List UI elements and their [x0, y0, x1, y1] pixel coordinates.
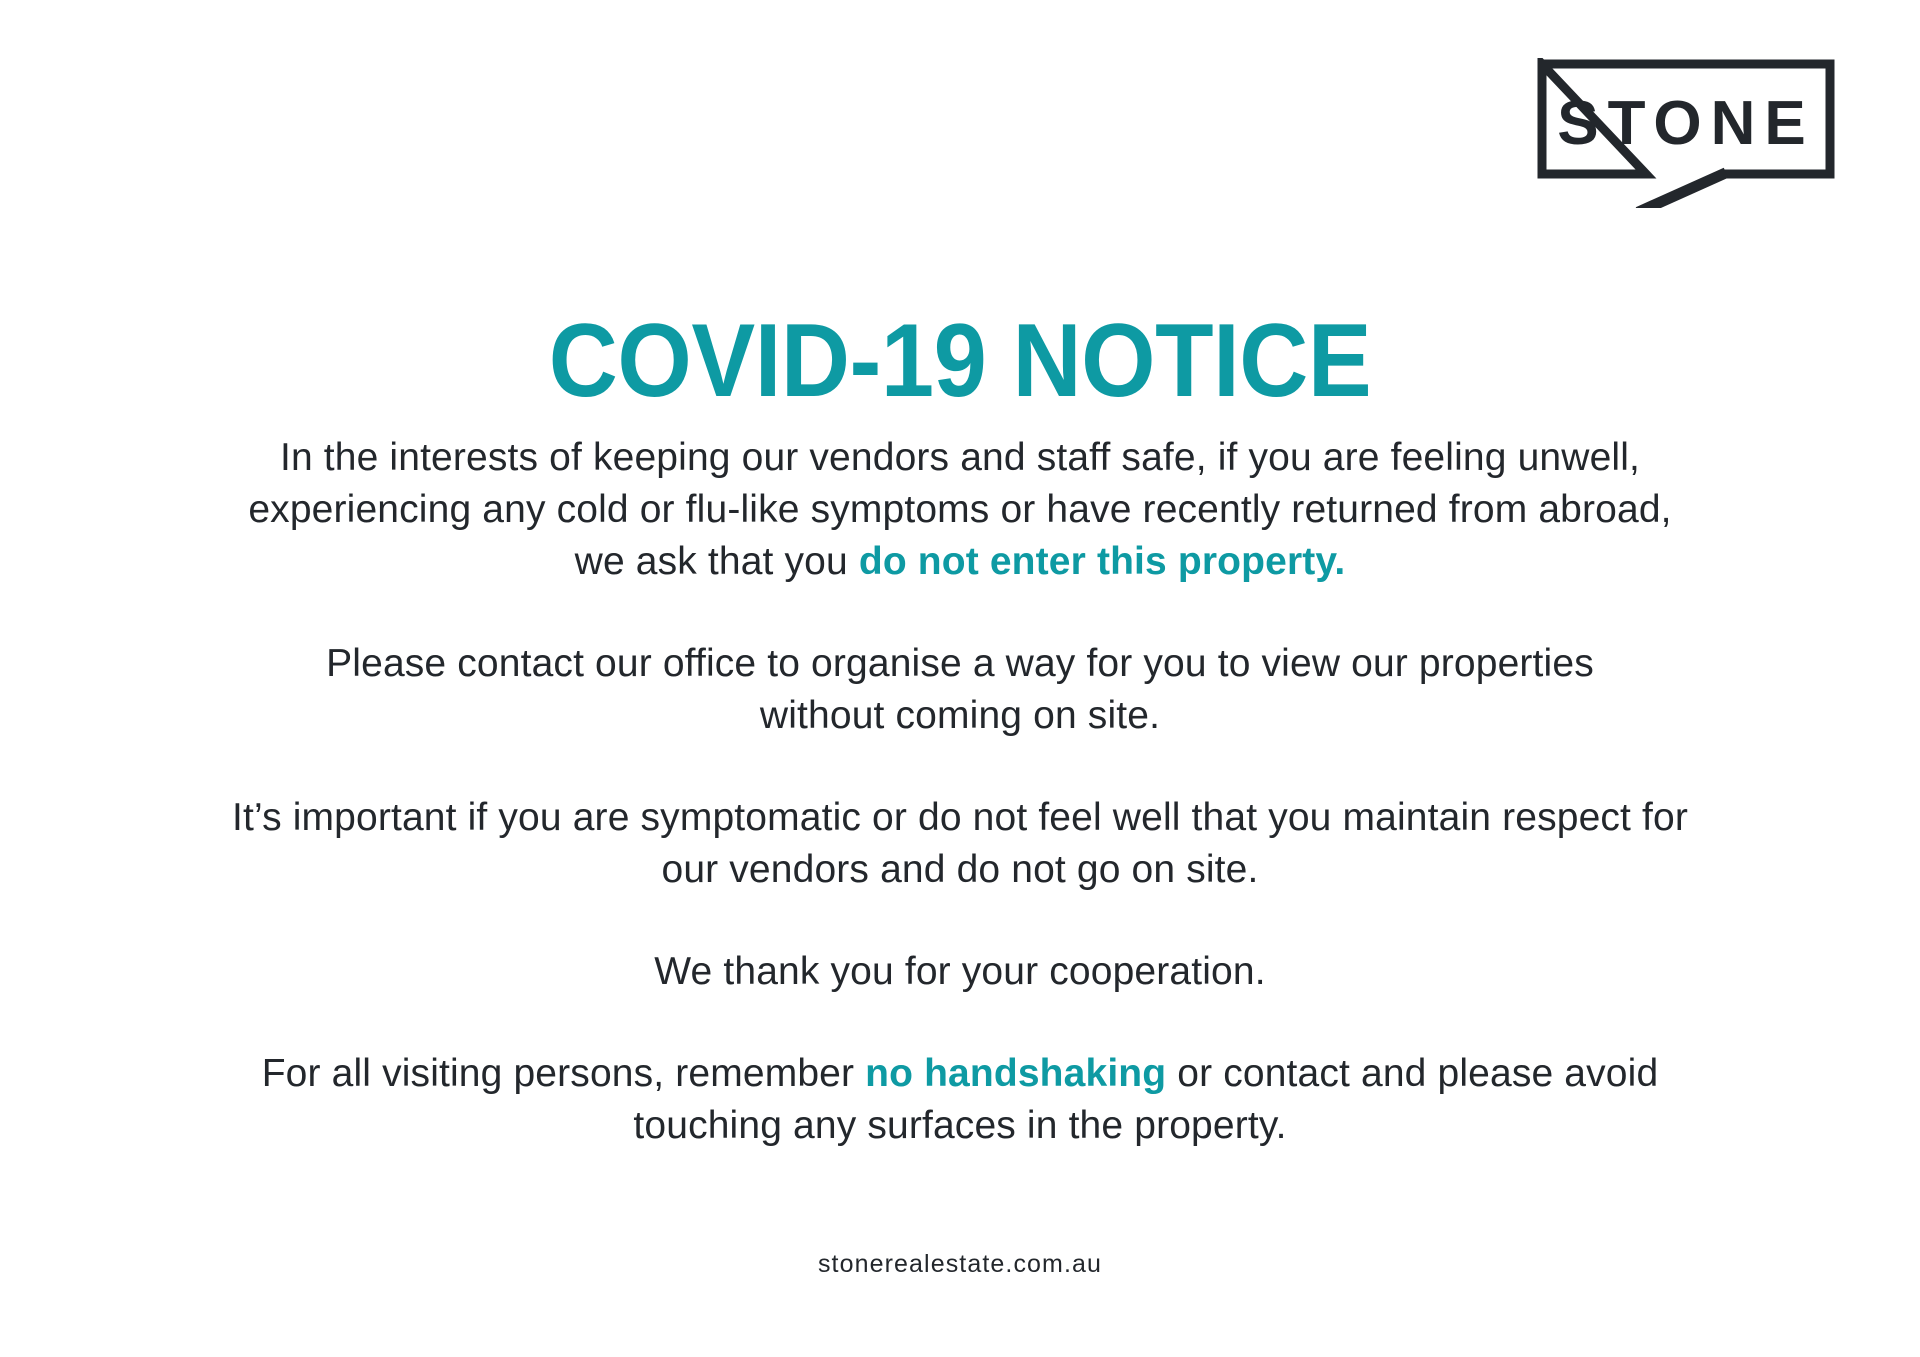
- stone-speech-bubble-logo: STONE: [1536, 58, 1836, 208]
- notice-paragraph-1: In the interests of keeping our vendors …: [180, 432, 1740, 588]
- paragraph-3-text: It’s important if you are symptomatic or…: [232, 796, 1688, 891]
- covid-notice-poster: STONE COVID-19 NOTICE In the interests o…: [0, 0, 1920, 1357]
- paragraph-4-text: We thank you for your cooperation.: [654, 950, 1265, 993]
- notice-paragraph-5: For all visiting persons, remember no ha…: [210, 1048, 1710, 1152]
- notice-body: In the interests of keeping our vendors …: [160, 432, 1760, 1152]
- footer-website[interactable]: stonerealestate.com.au: [0, 1250, 1920, 1279]
- paragraph-1-emphasis: do not enter this property.: [859, 540, 1346, 583]
- page-title: COVID-19 NOTICE: [77, 308, 1843, 414]
- paragraph-5-text-before: For all visiting persons, remember: [262, 1052, 865, 1095]
- notice-paragraph-3: It’s important if you are symptomatic or…: [170, 792, 1750, 896]
- notice-paragraph-4: We thank you for your cooperation.: [260, 946, 1660, 998]
- paragraph-2-text: Please contact our office to organise a …: [326, 642, 1594, 737]
- logo-wordmark: STONE: [1557, 89, 1814, 158]
- stone-logo: STONE: [1536, 58, 1836, 208]
- paragraph-5-emphasis: no handshaking: [865, 1052, 1166, 1095]
- notice-paragraph-2: Please contact our office to organise a …: [230, 638, 1690, 742]
